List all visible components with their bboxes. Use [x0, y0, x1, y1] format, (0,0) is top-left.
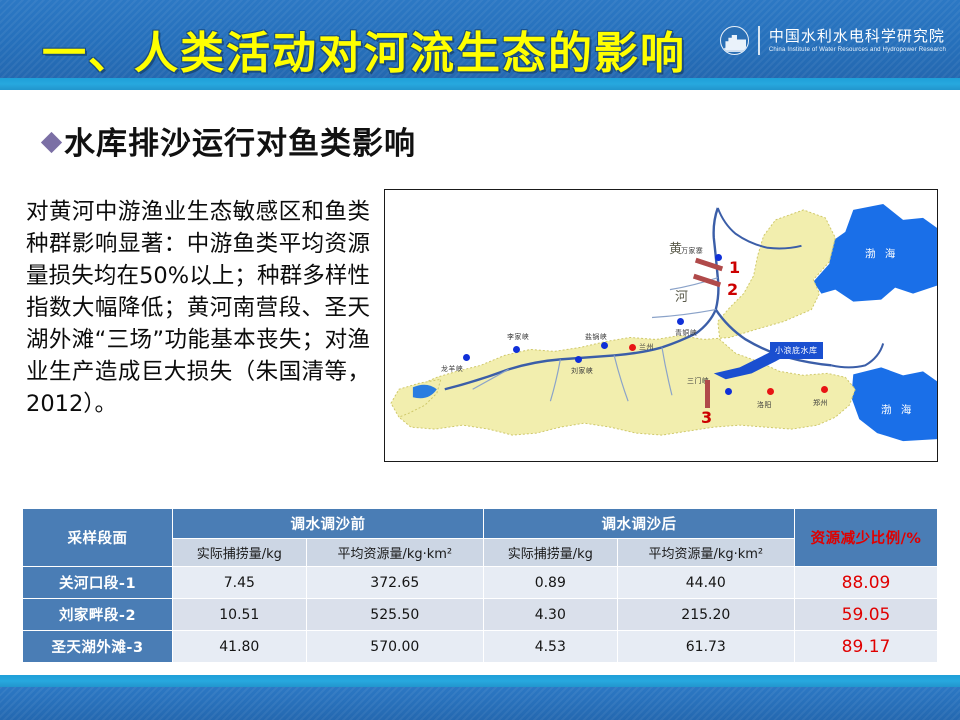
map-dot-liujiaxia — [575, 356, 582, 363]
map-label-luoyang: 洛阳 — [757, 400, 772, 410]
map-label-lijiaxia: 李家峡 — [507, 332, 529, 342]
yellow-river-basin-map: 黄 河 万家寨 青铜峡 盐锅峡 刘家峡 李家峡 龙羊峡 兰州 三门峡 洛阳 郑州… — [384, 189, 938, 462]
table-subheader-before-catch: 实际捕捞量/kg — [173, 539, 307, 567]
table-cell-before-catch: 41.80 — [173, 631, 307, 663]
table-header-row-group: 采样段面 调水调沙前 调水调沙后 资源减少比例/% — [23, 509, 938, 539]
map-site-number-3: 3 — [701, 408, 712, 427]
logo-chinese-name: 中国水利水电科学研究院 — [769, 28, 946, 45]
table-cell-after-resource: 215.20 — [617, 599, 794, 631]
fishery-resource-table: 采样段面 调水调沙前 调水调沙后 资源减少比例/% 实际捕捞量/kg 平均资源量… — [22, 508, 938, 663]
map-dot-lijiaxia — [513, 346, 520, 353]
table-cell-after-resource: 44.40 — [617, 567, 794, 599]
diamond-bullet-icon — [41, 132, 62, 153]
slide-header-band: 一、人类活动对河流生态的影响 中国水利水电科学研究院 China Institu… — [0, 0, 960, 78]
map-dot-qingtongxia — [677, 318, 684, 325]
table-subheader-after-resource: 平均资源量/kg·km² — [617, 539, 794, 567]
table-cell-section-label: 关河口段-1 — [23, 567, 173, 599]
table-row: 刘家畔段-2 10.51 525.50 4.30 215.20 59.05 — [23, 599, 938, 631]
table-cell-after-catch: 0.89 — [483, 567, 617, 599]
table-header-sampling-section: 采样段面 — [23, 509, 173, 567]
dam-circle-logo-icon — [720, 26, 749, 55]
map-site-number-2: 2 — [727, 280, 738, 299]
map-dot-zhengzhou — [821, 386, 828, 393]
logo-english-name: China Institute of Water Resources and H… — [769, 45, 946, 54]
map-dot-longyangxia — [463, 354, 470, 361]
map-label-wanjiazhai: 万家寨 — [681, 246, 703, 256]
table-row: 关河口段-1 7.45 372.65 0.89 44.40 88.09 — [23, 567, 938, 599]
page-title: 一、人类活动对河流生态的影响 — [42, 17, 686, 78]
map-sea-label-bohai-north: 渤 海 — [865, 246, 898, 261]
map-dot-luoyang — [767, 388, 774, 395]
table-cell-after-catch: 4.30 — [483, 599, 617, 631]
map-label-longyangxia: 龙羊峡 — [441, 364, 463, 374]
table-cell-section-label: 圣天湖外滩-3 — [23, 631, 173, 663]
table-cell-reduction: 59.05 — [795, 599, 938, 631]
map-dot-wanjiazhai — [715, 254, 722, 261]
table-row: 圣天湖外滩-3 41.80 570.00 4.53 61.73 89.17 — [23, 631, 938, 663]
table-header-after: 调水调沙后 — [483, 509, 794, 539]
table-header-reduction-ratio: 资源减少比例/% — [795, 509, 938, 567]
map-label-qingtongxia: 青铜峡 — [675, 328, 697, 338]
table-cell-before-resource: 525.50 — [306, 599, 483, 631]
map-site-number-1: 1 — [729, 258, 740, 277]
table-cell-section-label: 刘家畔段-2 — [23, 599, 173, 631]
table-cell-before-catch: 7.45 — [173, 567, 307, 599]
map-callout-xiaolangdi: 小浪底水库 — [770, 342, 823, 359]
map-dot-lanzhou — [629, 344, 636, 351]
map-dot-sanmenxia — [725, 388, 732, 395]
body-paragraph: 对黄河中游渔业生态敏感区和鱼类种群影响显著：中游鱼类平均资源量损失均在50%以上… — [26, 196, 370, 420]
table-cell-before-catch: 10.51 — [173, 599, 307, 631]
table-subheader-before-resource: 平均资源量/kg·km² — [306, 539, 483, 567]
map-dam-bar-3 — [705, 380, 710, 408]
table-cell-before-resource: 372.65 — [306, 567, 483, 599]
header-accent-stripe — [0, 78, 960, 90]
map-label-yanguoxia: 盐锅峡 — [585, 332, 607, 342]
table-header-before: 调水调沙前 — [173, 509, 484, 539]
map-label-lanzhou: 兰州 — [639, 342, 654, 352]
table-cell-after-resource: 61.73 — [617, 631, 794, 663]
map-label-zhengzhou: 郑州 — [813, 398, 828, 408]
table-cell-reduction: 89.17 — [795, 631, 938, 663]
map-char-he: 河 — [675, 286, 688, 305]
subtitle-label: 水库排沙运行对鱼类影响 — [64, 118, 416, 163]
section-subtitle: 水库排沙运行对鱼类影响 — [44, 118, 416, 163]
table-cell-before-resource: 570.00 — [306, 631, 483, 663]
table-cell-after-catch: 4.53 — [483, 631, 617, 663]
footer-accent-stripe — [0, 675, 960, 687]
map-vector-canvas — [385, 190, 937, 462]
map-dot-yanguoxia — [601, 342, 608, 349]
logo-divider — [758, 26, 759, 55]
table-subheader-after-catch: 实际捕捞量/kg — [483, 539, 617, 567]
map-label-liujiaxia: 刘家峡 — [571, 366, 593, 376]
slide-footer-band — [0, 687, 960, 720]
institute-logo: 中国水利水电科学研究院 China Institute of Water Res… — [720, 26, 946, 55]
table-cell-reduction: 88.09 — [795, 567, 938, 599]
map-sea-label-bohai-south: 渤 海 — [881, 402, 914, 417]
